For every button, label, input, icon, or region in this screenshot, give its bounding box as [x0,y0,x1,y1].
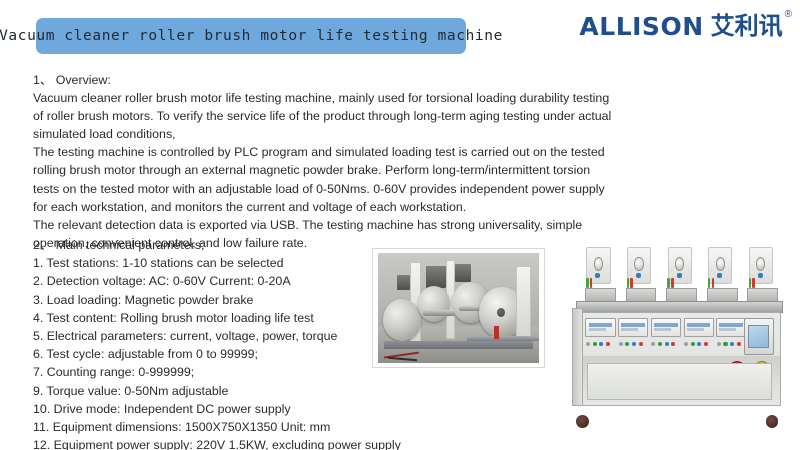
machine-internals-image [378,253,539,363]
logo-latin-text: ALLISON [579,14,703,39]
test-fixture-row [585,246,779,306]
cabinet-lower-door [587,363,771,400]
fixture-ring [634,257,643,270]
meter-subdigits [719,328,736,330]
motor-block [455,264,471,282]
parameter-item: 11. Equipment dimensions: 1500X750X1350 … [33,418,463,436]
meter-digits [621,323,645,327]
slide-page: Vacuum cleaner roller brush motor life t… [0,0,800,450]
hmi-touchscreen[interactable] [744,318,774,355]
station-meter-display [684,318,714,337]
fixture-green-led [667,278,669,288]
caster-wheel [766,415,779,428]
registered-trademark-icon: ® [785,10,792,20]
station-start-button[interactable] [691,342,695,346]
control-cabinet [578,312,780,407]
station-panel [651,318,681,355]
mounting-bracket [516,266,530,339]
test-fixture [626,246,657,306]
drive-shaft [423,310,455,316]
station-panel [684,318,714,355]
overview-heading: 1、 Overview: [33,71,633,89]
hmi-screen-surface[interactable] [748,325,769,347]
station-button-row [586,340,615,348]
brand-logo: ALLISON 艾利讯 ® [579,14,792,39]
station-meter-display [716,318,746,337]
station-reset-button[interactable] [619,342,623,346]
station-button-row [619,340,648,348]
fixture-blue-marker [677,273,682,278]
motor-block [397,275,410,290]
title-banner: Vacuum cleaner roller brush motor life t… [36,18,466,54]
station-start-button[interactable] [723,342,727,346]
meter-subdigits [621,328,638,330]
meter-digits [719,323,743,327]
overview-line: tests on the tested motor with an adjust… [33,180,633,198]
station-mode-button[interactable] [697,342,701,346]
meter-subdigits [589,328,606,330]
station-mode-button[interactable] [730,342,734,346]
station-stop-button[interactable] [704,342,708,346]
station-stop-button[interactable] [639,342,643,346]
station-start-button[interactable] [625,342,629,346]
fixture-green-led [749,278,751,288]
station-button-row [684,340,713,348]
overview-section: 1、 Overview: Vacuum cleaner roller brush… [33,71,633,252]
overview-line: for each workstation, and monitors the c… [33,198,633,216]
linear-rail [384,341,532,349]
station-meter-display [651,318,681,337]
overview-line: simulated load conditions, [33,125,633,143]
magnetic-powder-brake [383,299,422,341]
station-button-row [651,340,680,348]
station-mode-button[interactable] [665,342,669,346]
test-fixture [585,246,616,306]
caster-wheel [576,415,589,428]
fixture-green-led [627,278,629,288]
fixture-red-led [712,278,714,288]
parameter-item: 9. Torque value: 0-50Nm adjustable [33,382,463,400]
fixture-ring [675,257,684,270]
motor-block [426,266,445,288]
station-mode-button[interactable] [599,342,603,346]
overview-line: Vacuum cleaner roller brush motor life t… [33,89,633,107]
meter-digits [589,323,613,327]
fixture-ring [594,257,603,270]
cabinet-side-panel [572,308,583,406]
meter-subdigits [687,328,704,330]
station-button-row [717,340,746,348]
fixture-ring [756,257,765,270]
parameter-item: 10. Drive mode: Independent DC power sup… [33,400,463,418]
fixture-red-led [590,278,592,288]
station-stop-button[interactable] [737,342,741,346]
overview-line: of roller brush motors. To verify the se… [33,107,633,125]
overview-line: The testing machine is controlled by PLC… [33,143,633,161]
fixture-red-led [671,278,673,288]
fixture-green-led [586,278,588,288]
full-testing-machine-image [572,246,787,428]
meter-digits [687,323,711,327]
meter-subdigits [654,328,671,330]
fixture-red-led [752,278,754,288]
station-start-button[interactable] [658,342,662,346]
logo-chinese-text: 艾利讯 [711,14,783,39]
fixture-blue-marker [717,273,722,278]
station-reset-button[interactable] [651,342,655,346]
station-stop-button[interactable] [606,342,610,346]
test-fixture [707,246,738,306]
fixture-red-led [630,278,632,288]
overview-line: rolling brush motor through an external … [33,161,633,179]
fixture-blue-marker [758,273,763,278]
fixture-blue-marker [636,273,641,278]
station-panel [618,318,648,355]
test-fixture [666,246,697,306]
station-stop-button[interactable] [671,342,675,346]
fixture-blue-marker [595,273,600,278]
meter-digits [654,323,678,327]
station-panel [585,318,615,355]
station-start-button[interactable] [593,342,597,346]
station-reset-button[interactable] [586,342,590,346]
page-title: Vacuum cleaner roller brush motor life t… [0,28,503,44]
parameter-item: 12. Equipment power supply: 220V 1.5KW, … [33,436,463,450]
station-mode-button[interactable] [632,342,636,346]
brake-hub [497,308,505,317]
test-fixture [747,246,778,306]
station-panel [716,318,746,355]
overview-line: The relevant detection data is exported … [33,216,633,234]
station-reset-button[interactable] [684,342,688,346]
fixture-ring [716,257,725,270]
machine-internals-photo [372,248,545,368]
station-meter-display [585,318,615,337]
station-meter-display [618,318,648,337]
station-reset-button[interactable] [717,342,721,346]
red-indicator [494,326,499,339]
full-testing-machine-photo [572,246,787,428]
